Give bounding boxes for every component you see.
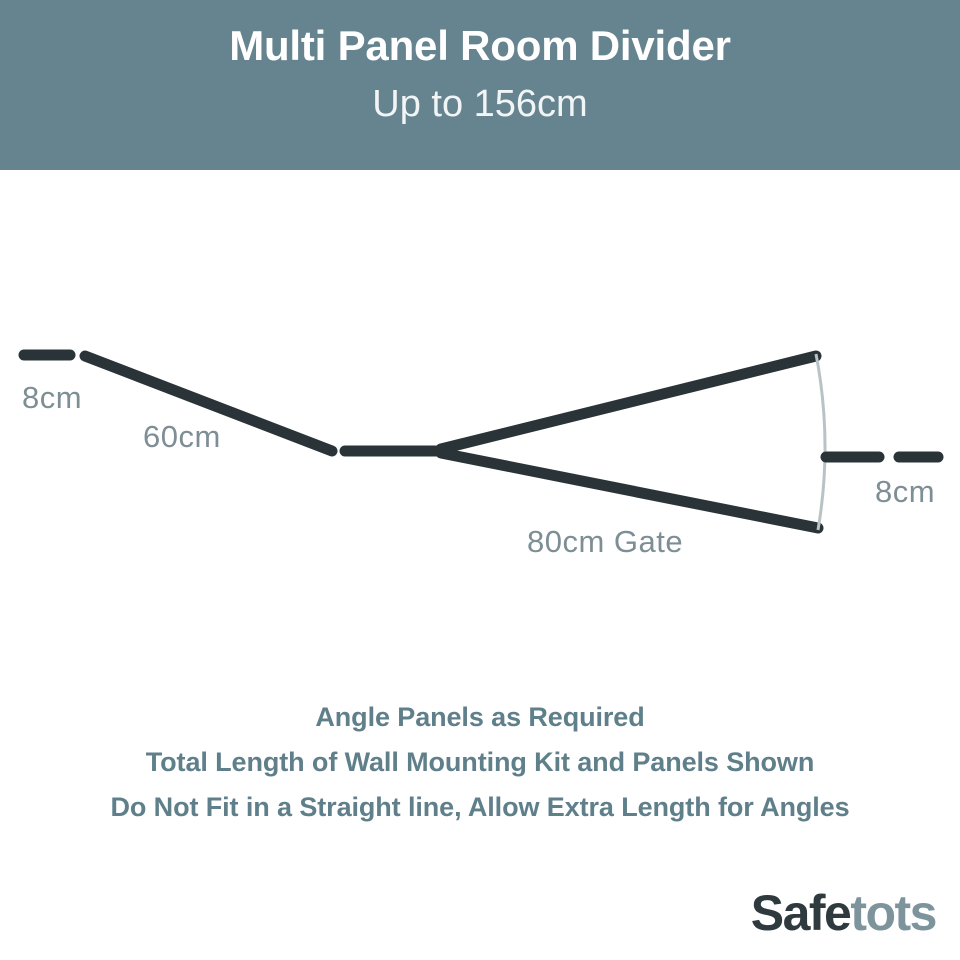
left-panel-label: 60cm (143, 419, 221, 454)
gate-label: 80cm Gate (527, 524, 683, 559)
safetots-logo: Safe tots (751, 884, 936, 942)
page-title: Multi Panel Room Divider (229, 22, 731, 70)
diagram-svg: 8cm 60cm 80cm Gate 8cm (0, 170, 960, 670)
note-line-1: Angle Panels as Required (0, 695, 960, 740)
logo-primary-text: Safe (751, 884, 851, 942)
left-mount-label: 8cm (22, 380, 82, 415)
note-line-2: Total Length of Wall Mounting Kit and Pa… (0, 740, 960, 785)
gate-upper-leaf-bar (441, 356, 816, 449)
page-subtitle: Up to 156cm (372, 82, 587, 128)
header-banner: Multi Panel Room Divider Up to 156cm (0, 0, 960, 170)
gate-lower-leaf-bar (441, 453, 818, 528)
notes-block: Angle Panels as Required Total Length of… (0, 695, 960, 830)
note-line-3: Do Not Fit in a Straight line, Allow Ext… (0, 785, 960, 830)
gate-swing-arc-path (816, 354, 825, 530)
right-mount-label: 8cm (875, 474, 935, 509)
logo-secondary-text: tots (850, 884, 936, 942)
divider-diagram: 8cm 60cm 80cm Gate 8cm (0, 170, 960, 670)
